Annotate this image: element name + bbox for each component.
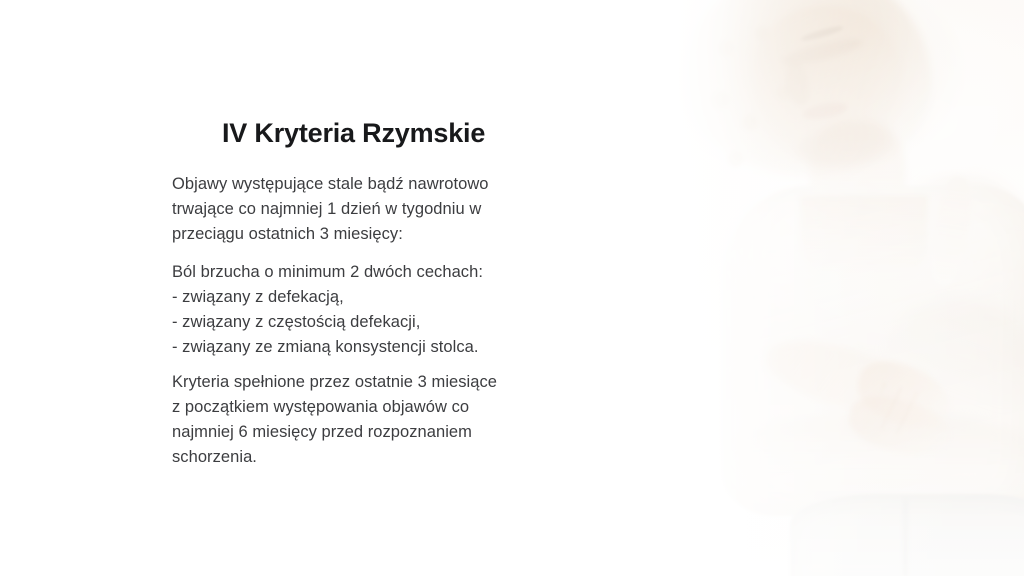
slide-content: IV Kryteria Rzymskie Objawy występujące … bbox=[0, 0, 600, 576]
symptoms-line-2: trwające co najmniej 1 dzień w tygodniu … bbox=[172, 197, 572, 222]
symptoms-line-3: przeciągu ostatnich 3 miesięcy: bbox=[172, 222, 572, 247]
woman-holding-abdomen-photo bbox=[604, 0, 1024, 576]
pain-criteria-item-1: - związany z defekacją, bbox=[172, 285, 572, 310]
duration-line-4: schorzenia. bbox=[172, 445, 572, 470]
duration-paragraph: Kryteria spełnione przez ostatnie 3 mies… bbox=[172, 370, 572, 470]
tank-top-neckline bbox=[800, 196, 928, 292]
slide-root: IV Kryteria Rzymskie Objawy występujące … bbox=[0, 0, 1024, 576]
pain-criteria-paragraph: Ból brzucha o minimum 2 dwóch cechach: -… bbox=[172, 260, 572, 360]
trousers-shape bbox=[790, 494, 1024, 576]
duration-line-3: najmniej 6 miesięcy przed rozpoznaniem bbox=[172, 420, 572, 445]
pain-criteria-heading: Ból brzucha o minimum 2 dwóch cechach: bbox=[172, 260, 572, 285]
pain-criteria-item-3: - związany ze zmianą konsystencji stolca… bbox=[172, 335, 572, 360]
symptoms-paragraph: Objawy występujące stale bądź nawrotowo … bbox=[172, 172, 572, 247]
symptoms-line-1: Objawy występujące stale bądź nawrotowo bbox=[172, 172, 572, 197]
trouser-seam bbox=[904, 500, 907, 576]
pain-criteria-item-2: - związany z częstością defekacji, bbox=[172, 310, 572, 335]
duration-line-1: Kryteria spełnione przez ostatnie 3 mies… bbox=[172, 370, 572, 395]
duration-line-2: z początkiem występowania objawów co bbox=[172, 395, 572, 420]
page-title: IV Kryteria Rzymskie bbox=[222, 118, 485, 149]
